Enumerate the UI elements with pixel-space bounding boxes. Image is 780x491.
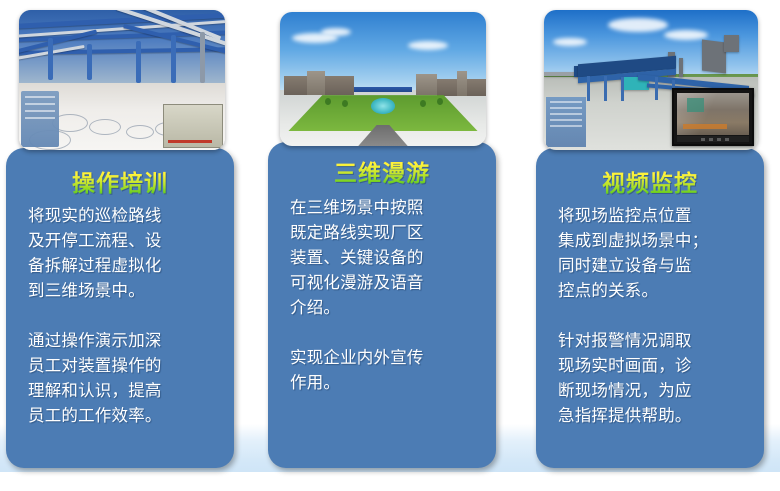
support-leg bbox=[621, 77, 624, 101]
tall-structure bbox=[702, 39, 726, 73]
card-description: 将现实的巡检路线 及开停工流程、设 备拆解过程虚拟化 到三维场景中。 通过操作演… bbox=[28, 204, 220, 429]
support-leg bbox=[655, 77, 658, 99]
building-tower bbox=[457, 71, 467, 96]
chimney bbox=[679, 58, 683, 78]
cctv-control-bar[interactable] bbox=[677, 136, 749, 142]
cloud bbox=[553, 38, 587, 46]
vertical-pipe bbox=[87, 44, 92, 80]
cloud bbox=[664, 30, 708, 40]
card-panel: 操作培训 将现实的巡检路线 及开停工流程、设 备拆解过程虚拟化 到三维场景中。 … bbox=[6, 148, 234, 468]
feature-card-row: 操作培训 将现实的巡检路线 及开停工流程、设 备拆解过程虚拟化 到三维场景中。 … bbox=[0, 0, 780, 491]
tall-structure-top bbox=[724, 35, 739, 52]
vertical-pipe bbox=[136, 41, 141, 83]
pipe-rack bbox=[354, 87, 412, 92]
scene-outdoor-plant bbox=[280, 12, 486, 146]
hud-info-panel bbox=[546, 97, 586, 147]
card-title: 操作培训 bbox=[6, 164, 234, 198]
card-thumbnail-three-dimensional-roaming bbox=[280, 12, 486, 146]
card-thumbnail-video-surveillance bbox=[544, 10, 758, 150]
tree bbox=[437, 98, 443, 105]
card-panel: 三维漫游 在三维场景中按照 既定路线实现厂区 装置、关键设备的 可视化漫游及语音… bbox=[268, 142, 496, 468]
feature-card-operation-training[interactable]: 操作培训 将现实的巡检路线 及开停工流程、设 备拆解过程虚拟化 到三维场景中。 … bbox=[6, 8, 234, 470]
feature-card-video-surveillance[interactable]: 视频监控 将现场监控点位置 集成到虚拟场景中； 同时建立设备与监 控点的关系。 … bbox=[536, 8, 764, 470]
feature-card-three-dimensional-roaming[interactable]: 三维漫游 在三维场景中按照 既定路线实现厂区 装置、关键设备的 可视化漫游及语音… bbox=[268, 8, 496, 470]
vertical-pipe bbox=[200, 32, 205, 82]
cctv-video-inset[interactable] bbox=[672, 88, 754, 146]
fountain bbox=[371, 98, 396, 114]
scene-plant-with-cctv bbox=[544, 10, 758, 150]
hud-info-panel bbox=[21, 91, 59, 147]
support-leg bbox=[604, 76, 607, 101]
vertical-pipe bbox=[171, 35, 176, 83]
card-description: 在三维场景中按照 既定路线实现厂区 装置、关键设备的 可视化漫游及语音 介绍。 … bbox=[290, 196, 482, 396]
card-panel: 视频监控 将现场监控点位置 集成到虚拟场景中； 同时建立设备与监 控点的关系。 … bbox=[536, 148, 764, 468]
building-tower bbox=[416, 74, 437, 95]
cctv-live-feed bbox=[677, 93, 749, 135]
card-description: 将现场监控点位置 集成到虚拟场景中； 同时建立设备与监 控点的关系。 针对报警情… bbox=[558, 204, 752, 429]
vertical-pipe bbox=[48, 38, 53, 80]
card-title: 三维漫游 bbox=[268, 154, 496, 188]
card-thumbnail-operation-training bbox=[19, 10, 225, 150]
card-title: 视频监控 bbox=[536, 164, 764, 198]
floor-marking bbox=[126, 125, 154, 139]
support-leg bbox=[587, 76, 590, 101]
scene-indoor-plant bbox=[19, 10, 225, 150]
building-tower bbox=[307, 71, 326, 95]
equipment-closeup bbox=[163, 104, 223, 148]
